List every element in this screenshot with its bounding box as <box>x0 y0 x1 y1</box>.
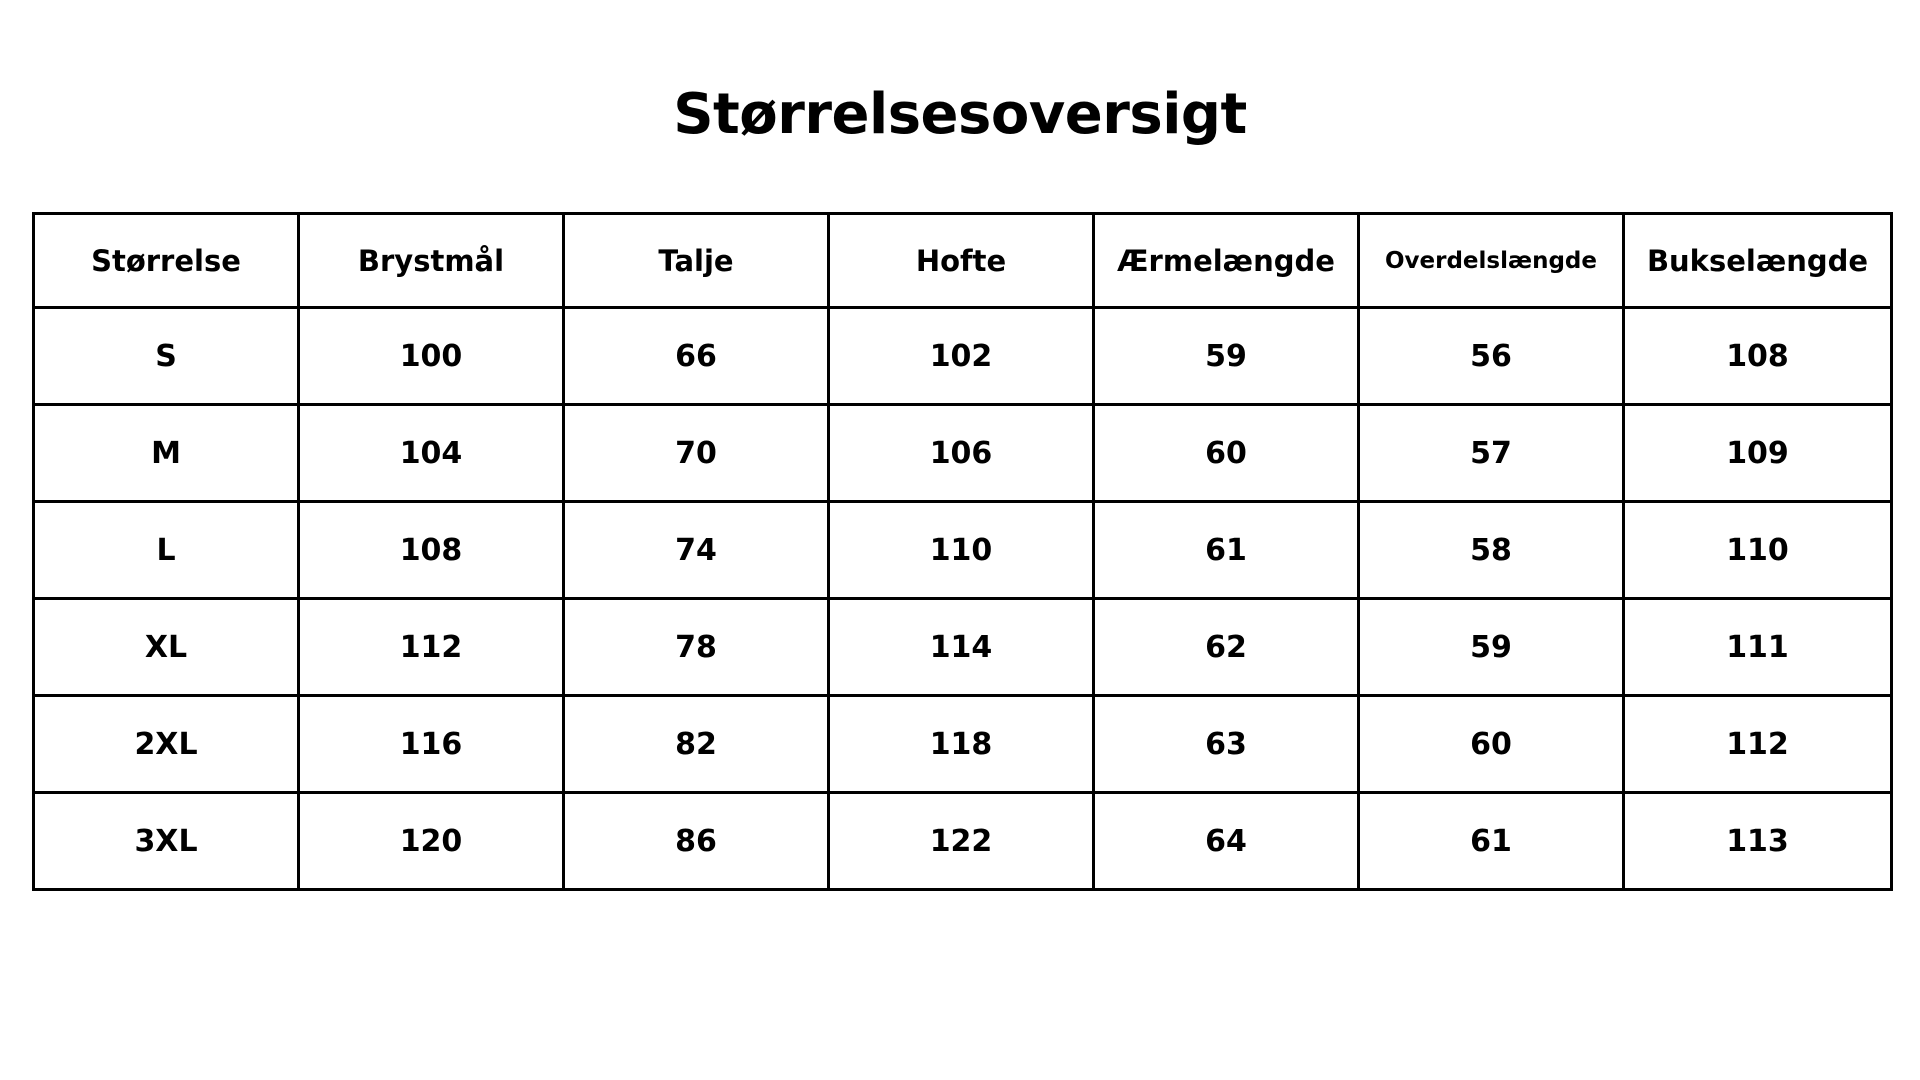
cell-aermelaengde: 60 <box>1094 405 1359 502</box>
cell-aermelaengde: 63 <box>1094 696 1359 793</box>
cell-overdelslaengde: 61 <box>1359 793 1624 890</box>
cell-brystmaal: 120 <box>299 793 564 890</box>
cell-bukselaengde: 113 <box>1624 793 1892 890</box>
cell-overdelslaengde: 60 <box>1359 696 1624 793</box>
cell-brystmaal: 108 <box>299 502 564 599</box>
cell-talje: 74 <box>564 502 829 599</box>
cell-hofte: 102 <box>829 308 1094 405</box>
table-header-row: Størrelse Brystmål Talje Hofte Ærmelængd… <box>34 214 1892 308</box>
column-header-bukselaengde: Bukselængde <box>1624 214 1892 308</box>
cell-talje: 66 <box>564 308 829 405</box>
cell-bukselaengde: 112 <box>1624 696 1892 793</box>
cell-talje: 86 <box>564 793 829 890</box>
cell-overdelslaengde: 57 <box>1359 405 1624 502</box>
size-chart-page: Størrelsesoversigt Størrelse Brystmål Ta… <box>0 0 1920 1080</box>
cell-hofte: 122 <box>829 793 1094 890</box>
column-header-hofte: Hofte <box>829 214 1094 308</box>
cell-aermelaengde: 64 <box>1094 793 1359 890</box>
column-header-brystmaal: Brystmål <box>299 214 564 308</box>
cell-aermelaengde: 61 <box>1094 502 1359 599</box>
table-row: 2XL 116 82 118 63 60 112 <box>34 696 1892 793</box>
cell-brystmaal: 116 <box>299 696 564 793</box>
cell-size: 2XL <box>34 696 299 793</box>
size-table-container: Størrelse Brystmål Talje Hofte Ærmelængd… <box>32 212 1890 891</box>
cell-hofte: 114 <box>829 599 1094 696</box>
cell-size: XL <box>34 599 299 696</box>
cell-overdelslaengde: 56 <box>1359 308 1624 405</box>
cell-size: L <box>34 502 299 599</box>
table-header: Størrelse Brystmål Talje Hofte Ærmelængd… <box>34 214 1892 308</box>
cell-brystmaal: 100 <box>299 308 564 405</box>
cell-bukselaengde: 109 <box>1624 405 1892 502</box>
cell-aermelaengde: 62 <box>1094 599 1359 696</box>
table-row: XL 112 78 114 62 59 111 <box>34 599 1892 696</box>
cell-bukselaengde: 108 <box>1624 308 1892 405</box>
cell-size: M <box>34 405 299 502</box>
page-title: Størrelsesoversigt <box>0 86 1920 145</box>
cell-size: 3XL <box>34 793 299 890</box>
cell-overdelslaengde: 58 <box>1359 502 1624 599</box>
cell-size: S <box>34 308 299 405</box>
column-header-overdelslaengde: Overdelslængde <box>1359 214 1624 308</box>
cell-talje: 70 <box>564 405 829 502</box>
table-row: M 104 70 106 60 57 109 <box>34 405 1892 502</box>
cell-aermelaengde: 59 <box>1094 308 1359 405</box>
cell-bukselaengde: 110 <box>1624 502 1892 599</box>
column-header-stoerrelse: Størrelse <box>34 214 299 308</box>
table-row: 3XL 120 86 122 64 61 113 <box>34 793 1892 890</box>
column-header-talje: Talje <box>564 214 829 308</box>
cell-brystmaal: 112 <box>299 599 564 696</box>
cell-hofte: 118 <box>829 696 1094 793</box>
cell-hofte: 106 <box>829 405 1094 502</box>
cell-bukselaengde: 111 <box>1624 599 1892 696</box>
table-body: S 100 66 102 59 56 108 M 104 70 106 60 5… <box>34 308 1892 890</box>
cell-talje: 78 <box>564 599 829 696</box>
column-header-aermelaengde: Ærmelængde <box>1094 214 1359 308</box>
cell-hofte: 110 <box>829 502 1094 599</box>
size-table: Størrelse Brystmål Talje Hofte Ærmelængd… <box>32 212 1893 891</box>
table-row: L 108 74 110 61 58 110 <box>34 502 1892 599</box>
table-row: S 100 66 102 59 56 108 <box>34 308 1892 405</box>
cell-brystmaal: 104 <box>299 405 564 502</box>
cell-talje: 82 <box>564 696 829 793</box>
cell-overdelslaengde: 59 <box>1359 599 1624 696</box>
